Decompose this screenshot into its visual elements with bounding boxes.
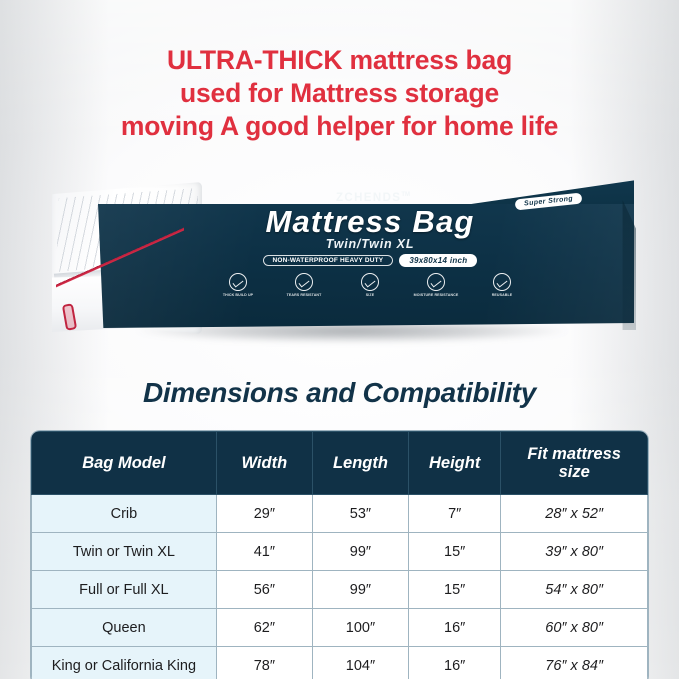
dimensions-table: Bag Model Width Length Height Fit mattre… [31,431,648,679]
cell-fit: 60″ x 80″ [501,609,648,647]
bag-feature-2: TEARS RESISTANT [277,273,331,298]
headline-line-2: used for Mattress storage [0,77,679,110]
cell-length: 104″ [312,647,408,679]
bag-size-subtitle: Twin/Twin XL [150,237,590,251]
cell-model: Twin or Twin XL [32,533,217,571]
column-header-length: Length [312,432,408,495]
check-circle-icon [493,273,511,291]
cell-length: 53″ [312,495,408,533]
headline: ULTRA-THICK mattress bag used for Mattre… [0,44,679,143]
column-header-height: Height [408,432,500,495]
cell-height: 15″ [408,571,500,609]
cell-model: Queen [32,609,217,647]
check-circle-icon [229,273,247,291]
cell-fit: 54″ x 80″ [501,571,648,609]
cell-height: 16″ [408,647,500,679]
dimensions-table-wrapper: Bag Model Width Length Height Fit mattre… [31,431,648,679]
bag-feature-3: SIZE [343,273,397,298]
cell-length: 100″ [312,609,408,647]
headline-line-3: moving A good helper for home life [0,110,679,143]
table-row: Crib 29″ 53″ 7″ 28″ x 52″ [32,495,648,533]
cell-model: King or California King [32,647,217,679]
brand-text: ZCHENDS [336,192,401,204]
bag-pill-row: NON-WATERPROOF HEAVY DUTY 39x80x14 inch [150,254,590,267]
check-circle-icon [361,273,379,291]
bag-feature-icon-row: THICK BUILD UP TEARS RESISTANT SIZE MOIS… [150,273,590,298]
column-header-fit-mattress-size: Fit mattress size [501,432,648,495]
cell-fit: 28″ x 52″ [501,495,648,533]
cell-model: Crib [32,495,217,533]
bag-feature-4-label: MOISTURE RESISTANCE [409,293,463,298]
table-row: Twin or Twin XL 41″ 99″ 15″ 39″ x 80″ [32,533,648,571]
section-title: Dimensions and Compatibility [0,377,679,409]
headline-line-1: ULTRA-THICK mattress bag [0,44,679,77]
cell-width: 56″ [216,571,312,609]
cell-width: 29″ [216,495,312,533]
check-circle-icon [427,273,445,291]
table-row: Queen 62″ 100″ 16″ 60″ x 80″ [32,609,648,647]
bag-feature-3-label: SIZE [343,293,397,298]
trademark-symbol: TM [401,192,410,198]
cell-width: 78″ [216,647,312,679]
brand-name: ZCHENDSTM [336,192,410,204]
column-header-width: Width [216,432,312,495]
bag-feature-4: MOISTURE RESISTANCE [409,273,463,298]
product-photo: Super Strong ZCHENDSTM Mattress Bag Twin… [0,170,679,370]
table-row: King or California King 78″ 104″ 16″ 76″… [32,647,648,679]
cell-height: 15″ [408,533,500,571]
bag-feature-5: REUSABLE [475,273,529,298]
cell-length: 99″ [312,533,408,571]
column-header-fit-line-2: size [559,463,590,481]
bag-feature-1-label: THICK BUILD UP [211,293,265,298]
cell-height: 7″ [408,495,500,533]
bag-feature-5-label: REUSABLE [475,293,529,298]
bag-pill-left: NON-WATERPROOF HEAVY DUTY [263,255,394,266]
cell-model: Full or Full XL [32,571,217,609]
column-header-bag-model: Bag Model [32,432,217,495]
infographic-page: ULTRA-THICK mattress bag used for Mattre… [0,0,679,679]
bag-printed-artwork: Super Strong ZCHENDSTM Mattress Bag Twin… [150,188,590,308]
table-row: Full or Full XL 56″ 99″ 15″ 54″ x 80″ [32,571,648,609]
table-header: Bag Model Width Length Height Fit mattre… [32,432,648,495]
bag-pill-dimensions: 39x80x14 inch [399,254,477,267]
column-header-fit-line-1: Fit mattress [527,445,621,463]
cell-height: 16″ [408,609,500,647]
cell-width: 41″ [216,533,312,571]
check-circle-icon [295,273,313,291]
cell-fit: 76″ x 84″ [501,647,648,679]
table-body: Crib 29″ 53″ 7″ 28″ x 52″ Twin or Twin X… [32,495,648,679]
bag-feature-1: THICK BUILD UP [211,273,265,298]
table-header-row: Bag Model Width Length Height Fit mattre… [32,432,648,495]
cell-fit: 39″ x 80″ [501,533,648,571]
bag-feature-2-label: TEARS RESISTANT [277,293,331,298]
cell-width: 62″ [216,609,312,647]
cell-length: 99″ [312,571,408,609]
